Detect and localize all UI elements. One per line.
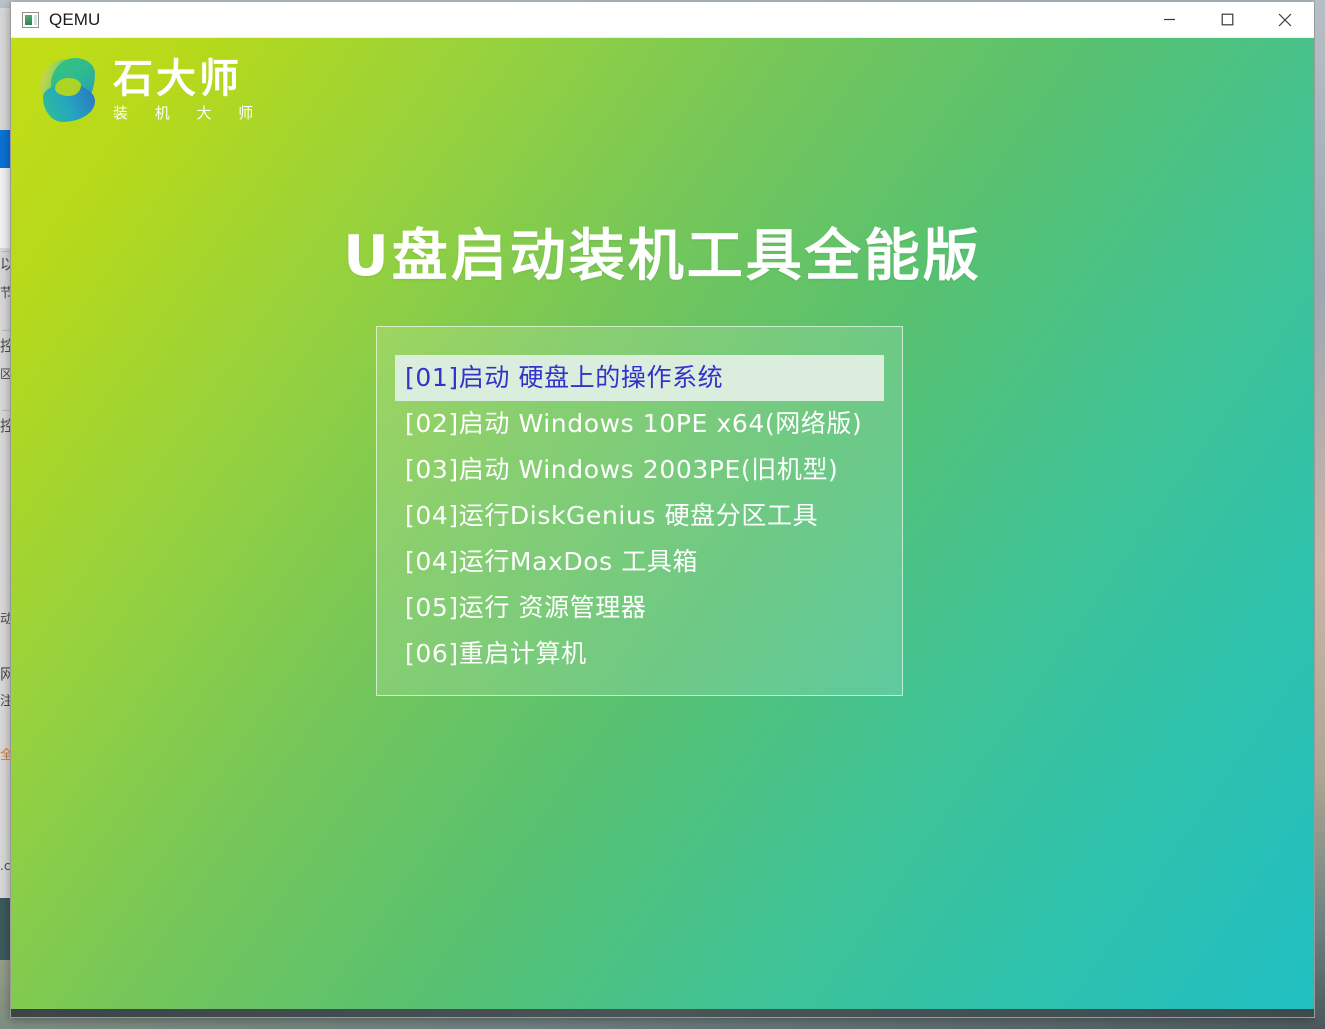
brand-logo: 石大师 装 机 大 师 xyxy=(37,56,264,126)
qemu-icon xyxy=(22,12,39,28)
boot-menu-item-02[interactable]: [02]启动 Windows 10PE x64(网络版) xyxy=(395,401,884,447)
brand-subtitle: 装 机 大 师 xyxy=(113,102,264,124)
vm-display[interactable]: 石大师 装 机 大 师 U盘启动装机工具全能版 [01]启动 硬盘上的操作系统 … xyxy=(11,38,1314,1017)
boot-menu-item-04-diskgenius[interactable]: [04]运行DiskGenius 硬盘分区工具 xyxy=(395,493,884,539)
minimize-icon xyxy=(1163,13,1176,26)
desktop-right-edge xyxy=(1315,0,1325,1029)
maximize-button[interactable] xyxy=(1198,2,1256,38)
maximize-icon xyxy=(1221,13,1234,26)
page-title: U盘启动装机工具全能版 xyxy=(11,223,1314,291)
minimize-button[interactable] xyxy=(1140,2,1198,38)
window-title: QEMU xyxy=(49,10,100,30)
boot-menu-item-06[interactable]: [06]重启计算机 xyxy=(395,631,884,677)
brand-text: 石大师 装 机 大 师 xyxy=(113,58,264,124)
shi-da-shi-logo-icon xyxy=(37,56,99,126)
window-titlebar[interactable]: QEMU xyxy=(11,2,1314,38)
close-button[interactable] xyxy=(1256,2,1314,38)
qemu-window: QEMU xyxy=(10,2,1315,1018)
boot-menu-item-01[interactable]: [01]启动 硬盘上的操作系统 xyxy=(395,355,884,401)
host-screen-bottom-strip xyxy=(11,1009,1314,1017)
boot-menu-item-05[interactable]: [05]运行 资源管理器 xyxy=(395,585,884,631)
boot-menu: [01]启动 硬盘上的操作系统 [02]启动 Windows 10PE x64(… xyxy=(376,326,903,696)
close-icon xyxy=(1278,13,1292,27)
window-controls xyxy=(1140,2,1314,38)
boot-menu-item-03[interactable]: [03]启动 Windows 2003PE(旧机型) xyxy=(395,447,884,493)
brand-title: 石大师 xyxy=(113,58,264,100)
boot-menu-item-04-maxdos[interactable]: [04]运行MaxDos 工具箱 xyxy=(395,539,884,585)
